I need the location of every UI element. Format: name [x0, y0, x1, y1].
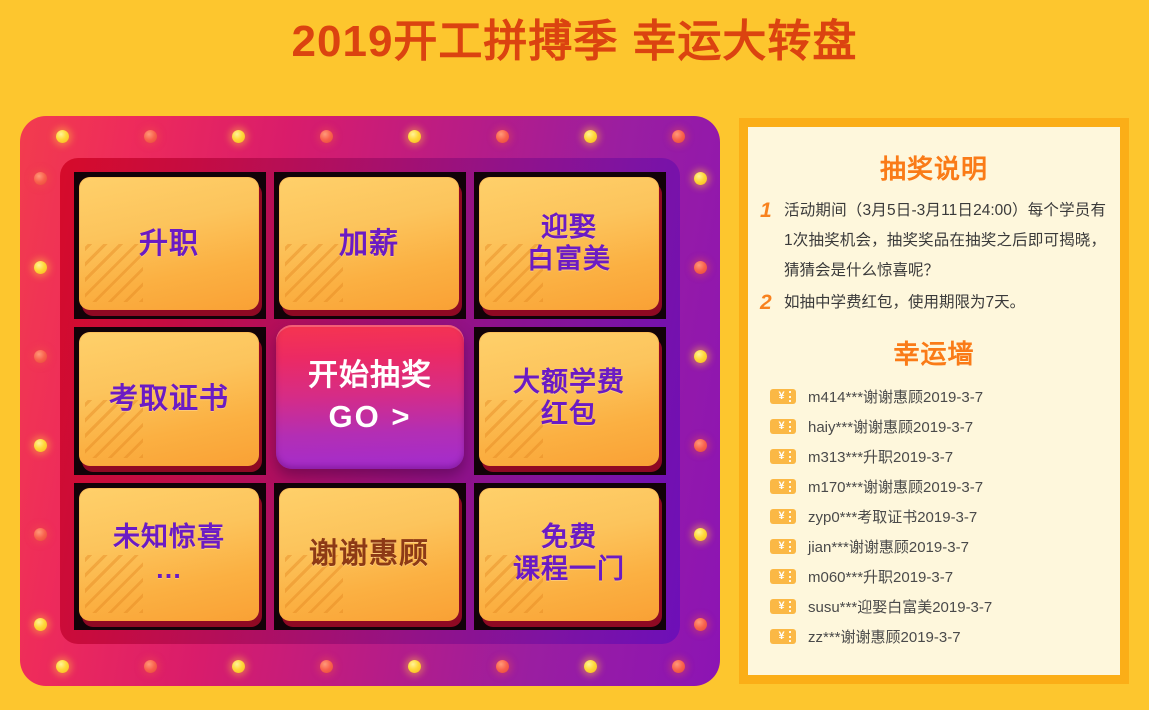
lucky-wall-item: ¥m414***谢谢惠顾2019-3-7: [770, 381, 1120, 411]
wheel-cell: 大额学费 红包: [474, 327, 666, 474]
bulb-bottom-0: [56, 660, 69, 673]
yen-ticket-icon: ¥: [770, 509, 796, 524]
lucky-wall-item: ¥m060***升职2019-3-7: [770, 561, 1120, 591]
page-title-main: 2019开工拼搏季: [292, 17, 619, 66]
rule-number: 1: [760, 196, 784, 226]
yen-ticket-icon: ¥: [770, 449, 796, 464]
bulb-left-0: [34, 172, 47, 185]
bulb-right-0: [694, 172, 707, 185]
yen-symbol: ¥: [778, 421, 784, 432]
lucky-wall-item: ¥m170***谢谢惠顾2019-3-7: [770, 471, 1120, 501]
start-draw-button[interactable]: 开始抽奖 GO >: [276, 325, 464, 468]
hatch-decoration-icon: [285, 244, 343, 302]
yen-ticket-icon: ¥: [770, 479, 796, 494]
bulb-top-1: [144, 130, 157, 143]
yen-symbol: ¥: [778, 631, 784, 642]
bulb-top-4: [408, 130, 421, 143]
wheel-tile-label: 免费 课程一门: [513, 522, 625, 586]
wheel-cell: 升职: [74, 172, 266, 319]
yen-symbol: ¥: [778, 511, 784, 522]
bulb-bottom-7: [672, 660, 685, 673]
wheel-tile-6[interactable]: 谢谢惠顾: [279, 488, 459, 621]
yen-ticket-icon: ¥: [770, 599, 796, 614]
wheel-tile-label: 加薪: [339, 227, 399, 261]
wheel-tile-2[interactable]: 迎娶 白富美: [479, 177, 659, 310]
yen-ticket-icon: ¥: [770, 419, 796, 434]
wheel-tile-label: 考取证书: [109, 382, 229, 416]
lucky-wall-item: ¥haiy***谢谢惠顾2019-3-7: [770, 411, 1120, 441]
rule-text: 如抽中学费红包，使用期限为7天。: [784, 288, 1106, 318]
wheel-tile-label: 大额学费 红包: [513, 367, 625, 431]
bulb-right-3: [694, 439, 707, 452]
lucky-wall-item: ¥zyp0***考取证书2019-3-7: [770, 501, 1120, 531]
wheel-tile-3[interactable]: 考取证书: [79, 332, 259, 465]
lucky-wall-text: susu***迎娶白富美2019-3-7: [808, 596, 992, 617]
lucky-wall-text: m313***升职2019-3-7: [808, 446, 953, 467]
bulb-left-5: [34, 618, 47, 631]
page-title: 2019开工拼搏季幸运大转盘: [0, 12, 1149, 72]
yen-symbol: ¥: [778, 541, 784, 552]
wheel-tile-label: 未知惊喜 …: [113, 522, 225, 586]
lucky-wall-text: zz***谢谢惠顾2019-3-7: [808, 626, 961, 647]
wheel-cell: 考取证书: [74, 327, 266, 474]
bulb-bottom-4: [408, 660, 421, 673]
hatch-decoration-icon: [85, 244, 143, 302]
start-draw-label: 开始抽奖: [308, 357, 432, 395]
bulb-bottom-2: [232, 660, 245, 673]
yen-ticket-icon: ¥: [770, 629, 796, 644]
lucky-wall-item: ¥jian***谢谢惠顾2019-3-7: [770, 531, 1120, 561]
bulb-left-3: [34, 439, 47, 452]
lucky-wall-list: ¥m414***谢谢惠顾2019-3-7¥haiy***谢谢惠顾2019-3-7…: [770, 381, 1120, 651]
yen-symbol: ¥: [778, 451, 784, 462]
lucky-wall-item: ¥m313***升职2019-3-7: [770, 441, 1120, 471]
rule-number: 2: [760, 288, 784, 318]
lucky-wall-text: m170***谢谢惠顾2019-3-7: [808, 476, 983, 497]
yen-symbol: ¥: [778, 481, 784, 492]
bulb-right-5: [694, 618, 707, 631]
rules-heading: 抽奖说明: [748, 149, 1120, 186]
bulb-top-7: [672, 130, 685, 143]
page-title-sub: 幸运大转盘: [632, 17, 857, 66]
rule-item: 1活动期间（3月5日-3月11日24:00）每个学员有1次抽奖机会，抽奖奖品在抽…: [760, 196, 1106, 286]
yen-ticket-icon: ¥: [770, 389, 796, 404]
lucky-wall-item: ¥zz***谢谢惠顾2019-3-7: [770, 621, 1120, 651]
start-draw-go-label: GO >: [329, 397, 412, 437]
wheel-cell: 加薪: [274, 172, 466, 319]
wheel-tile-7[interactable]: 免费 课程一门: [479, 488, 659, 621]
rule-item: 2如抽中学费红包，使用期限为7天。: [760, 288, 1106, 318]
bulb-left-2: [34, 350, 47, 363]
info-panel: 抽奖说明 1活动期间（3月5日-3月11日24:00）每个学员有1次抽奖机会，抽…: [739, 118, 1129, 684]
wheel-cell-center: 开始抽奖 GO >: [274, 327, 466, 474]
wheel-cell: 谢谢惠顾: [274, 483, 466, 630]
bulb-bottom-3: [320, 660, 333, 673]
lucky-wheel-bezel: 升职 加薪 迎娶 白富美 考取证书: [60, 158, 680, 644]
bulb-bottom-6: [584, 660, 597, 673]
yen-symbol: ¥: [778, 601, 784, 612]
bulb-right-4: [694, 528, 707, 541]
wheel-cell: 免费 课程一门: [474, 483, 666, 630]
wheel-cell: 未知惊喜 …: [74, 483, 266, 630]
bulb-top-3: [320, 130, 333, 143]
lucky-wall-text: zyp0***考取证书2019-3-7: [808, 506, 977, 527]
lucky-wall-text: haiy***谢谢惠顾2019-3-7: [808, 416, 973, 437]
bulb-left-1: [34, 261, 47, 274]
bulb-top-0: [56, 130, 69, 143]
wheel-tile-5[interactable]: 未知惊喜 …: [79, 488, 259, 621]
bulb-right-1: [694, 261, 707, 274]
yen-symbol: ¥: [778, 391, 784, 402]
bulb-top-6: [584, 130, 597, 143]
bulb-top-2: [232, 130, 245, 143]
bulb-right-2: [694, 350, 707, 363]
lucky-wall-text: jian***谢谢惠顾2019-3-7: [808, 536, 969, 557]
yen-ticket-icon: ¥: [770, 539, 796, 554]
wheel-cell: 迎娶 白富美: [474, 172, 666, 319]
yen-ticket-icon: ¥: [770, 569, 796, 584]
wheel-tile-label: 迎娶 白富美: [527, 212, 611, 276]
wheel-tile-label: 升职: [139, 227, 199, 261]
wheel-tile-label: 谢谢惠顾: [309, 537, 429, 571]
wheel-tile-1[interactable]: 加薪: [279, 177, 459, 310]
lucky-wheel-frame: 升职 加薪 迎娶 白富美 考取证书: [20, 116, 720, 686]
bulb-bottom-1: [144, 660, 157, 673]
rule-text: 活动期间（3月5日-3月11日24:00）每个学员有1次抽奖机会，抽奖奖品在抽奖…: [784, 196, 1106, 286]
bulb-left-4: [34, 528, 47, 541]
lucky-wall-item: ¥susu***迎娶白富美2019-3-7: [770, 591, 1120, 621]
lucky-wall-heading: 幸运墙: [748, 334, 1120, 371]
wheel-tile-4[interactable]: 大额学费 红包: [479, 332, 659, 465]
lucky-wall-text: m414***谢谢惠顾2019-3-7: [808, 386, 983, 407]
wheel-tile-0[interactable]: 升职: [79, 177, 259, 310]
bulb-top-5: [496, 130, 509, 143]
lucky-wheel-grid: 升职 加薪 迎娶 白富美 考取证书: [74, 172, 666, 630]
lucky-wall-text: m060***升职2019-3-7: [808, 566, 953, 587]
bulb-bottom-5: [496, 660, 509, 673]
rules-list: 1活动期间（3月5日-3月11日24:00）每个学员有1次抽奖机会，抽奖奖品在抽…: [760, 196, 1106, 318]
yen-symbol: ¥: [778, 571, 784, 582]
